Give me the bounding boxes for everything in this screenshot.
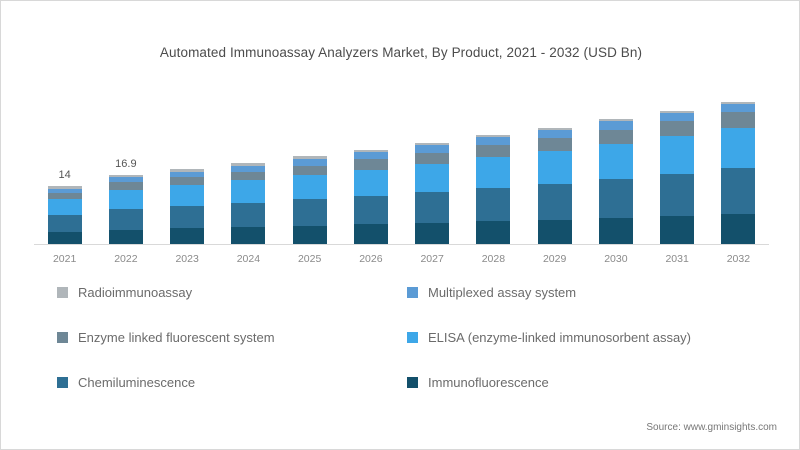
bar-stack-2026 (354, 150, 388, 244)
bar-segment (231, 227, 265, 244)
bar-segment (293, 166, 327, 175)
x-axis-tick-2032: 2032 (708, 253, 768, 265)
bar-segment (170, 185, 204, 206)
legend-item-radioimmunoassay[interactable]: Radioimmunoassay (57, 285, 407, 300)
bar-segment (660, 136, 694, 174)
x-axis-tick-2027: 2027 (402, 253, 462, 265)
x-axis-tick-2031: 2031 (647, 253, 707, 265)
legend-swatch-icon (407, 287, 418, 298)
bar-segment (109, 190, 143, 209)
bar-value-label: 14 (35, 169, 95, 181)
bar-segment (476, 145, 510, 157)
chart-title: Automated Immunoassay Analyzers Market, … (1, 45, 800, 60)
legend-item-chemiluminescence[interactable]: Chemiluminescence (57, 375, 407, 390)
bar-segment (354, 152, 388, 159)
bar-segment (231, 180, 265, 202)
bar-segment (415, 145, 449, 152)
bar-segment (721, 128, 755, 169)
legend-row: Chemiluminescence Immunofluorescence (57, 375, 757, 420)
bar-segment (538, 138, 572, 151)
bar-segment (415, 192, 449, 223)
bar-segment (170, 206, 204, 229)
bar-stack-2030 (599, 119, 633, 244)
bar-segment (293, 226, 327, 244)
legend-item-immunofluorescence[interactable]: Immunofluorescence (407, 375, 757, 390)
x-axis-tick-2021: 2021 (35, 253, 95, 265)
legend-item-enzyme-linked-fluorescent-system[interactable]: Enzyme linked fluorescent system (57, 330, 407, 345)
legend-item-label: Chemiluminescence (78, 375, 195, 390)
legend-item-label: Immunofluorescence (428, 375, 549, 390)
legend-swatch-icon (57, 332, 68, 343)
bar-segment (538, 130, 572, 139)
legend-item-label: ELISA (enzyme-linked immunosorbent assay… (428, 330, 691, 345)
bar-segment (660, 174, 694, 216)
bar-segment (599, 144, 633, 179)
bar-segment (476, 221, 510, 244)
bar-segment (721, 168, 755, 213)
bar-segment (48, 232, 82, 244)
bar-segment (170, 228, 204, 244)
bar-segment (48, 215, 82, 232)
bar-segment (231, 203, 265, 228)
bar-segment (660, 121, 694, 136)
bar-segment (48, 199, 82, 215)
x-axis-tick-2026: 2026 (341, 253, 401, 265)
bar-segment (476, 137, 510, 145)
bar-segment (109, 230, 143, 244)
legend-item-multiplexed[interactable]: Multiplexed assay system (407, 285, 757, 300)
bar-stack-2032 (721, 102, 755, 244)
bar-stack-2027 (415, 143, 449, 244)
bar-segment (538, 151, 572, 183)
bar-segment (721, 112, 755, 128)
bar-segment (354, 224, 388, 244)
axis-baseline (34, 244, 769, 245)
bar-segment (415, 153, 449, 164)
x-axis-tick-2024: 2024 (218, 253, 278, 265)
bar-stack-2031 (660, 111, 694, 244)
legend-swatch-icon (407, 332, 418, 343)
legend-item-label: Enzyme linked fluorescent system (78, 330, 275, 345)
legend-row: Enzyme linked fluorescent system ELISA (… (57, 330, 757, 375)
x-axis-tick-2022: 2022 (96, 253, 156, 265)
plot-area (34, 96, 769, 244)
bar-segment (476, 157, 510, 187)
legend-swatch-icon (407, 377, 418, 388)
chart-legend: Radioimmunoassay Multiplexed assay syste… (57, 285, 757, 420)
bar-stack-2022 (109, 175, 143, 244)
source-attribution: Source: www.gminsights.com (646, 422, 777, 433)
x-axis: 2021202220232024202520262027202820292030… (34, 253, 769, 269)
bar-segment (476, 188, 510, 222)
bar-segment (599, 121, 633, 130)
bar-segment (538, 220, 572, 244)
bar-segment (354, 159, 388, 169)
legend-item-label: Multiplexed assay system (428, 285, 576, 300)
x-axis-tick-2023: 2023 (157, 253, 217, 265)
x-axis-tick-2030: 2030 (586, 253, 646, 265)
bar-stack-2023 (170, 169, 204, 244)
legend-item-elisa[interactable]: ELISA (enzyme-linked immunosorbent assay… (407, 330, 757, 345)
bar-segment (660, 216, 694, 244)
legend-swatch-icon (57, 287, 68, 298)
bar-segment (415, 223, 449, 244)
x-axis-tick-2028: 2028 (463, 253, 523, 265)
bar-segment (538, 184, 572, 220)
bar-segment (599, 218, 633, 244)
bar-segment (415, 164, 449, 192)
legend-item-label: Radioimmunoassay (78, 285, 192, 300)
bar-segment (109, 182, 143, 189)
bar-segment (660, 113, 694, 121)
bar-segment (599, 130, 633, 144)
bar-stack-2029 (538, 128, 572, 244)
bar-stack-2028 (476, 135, 510, 244)
bar-stack-2025 (293, 156, 327, 244)
bar-segment (354, 170, 388, 196)
bar-segment (721, 104, 755, 112)
bar-segment (293, 199, 327, 226)
bar-segment (599, 179, 633, 218)
bar-segment (293, 175, 327, 199)
bar-segment (721, 214, 755, 244)
bar-stack-2024 (231, 163, 265, 244)
chart-card: Automated Immunoassay Analyzers Market, … (0, 0, 800, 450)
legend-swatch-icon (57, 377, 68, 388)
x-axis-tick-2029: 2029 (525, 253, 585, 265)
bar-segment (170, 177, 204, 185)
bar-value-label: 16.9 (96, 158, 156, 170)
bar-segment (109, 209, 143, 230)
x-axis-tick-2025: 2025 (280, 253, 340, 265)
legend-row: Radioimmunoassay Multiplexed assay syste… (57, 285, 757, 330)
bar-stack-2021 (48, 186, 82, 244)
bar-segment (354, 196, 388, 225)
bar-segment (231, 172, 265, 181)
